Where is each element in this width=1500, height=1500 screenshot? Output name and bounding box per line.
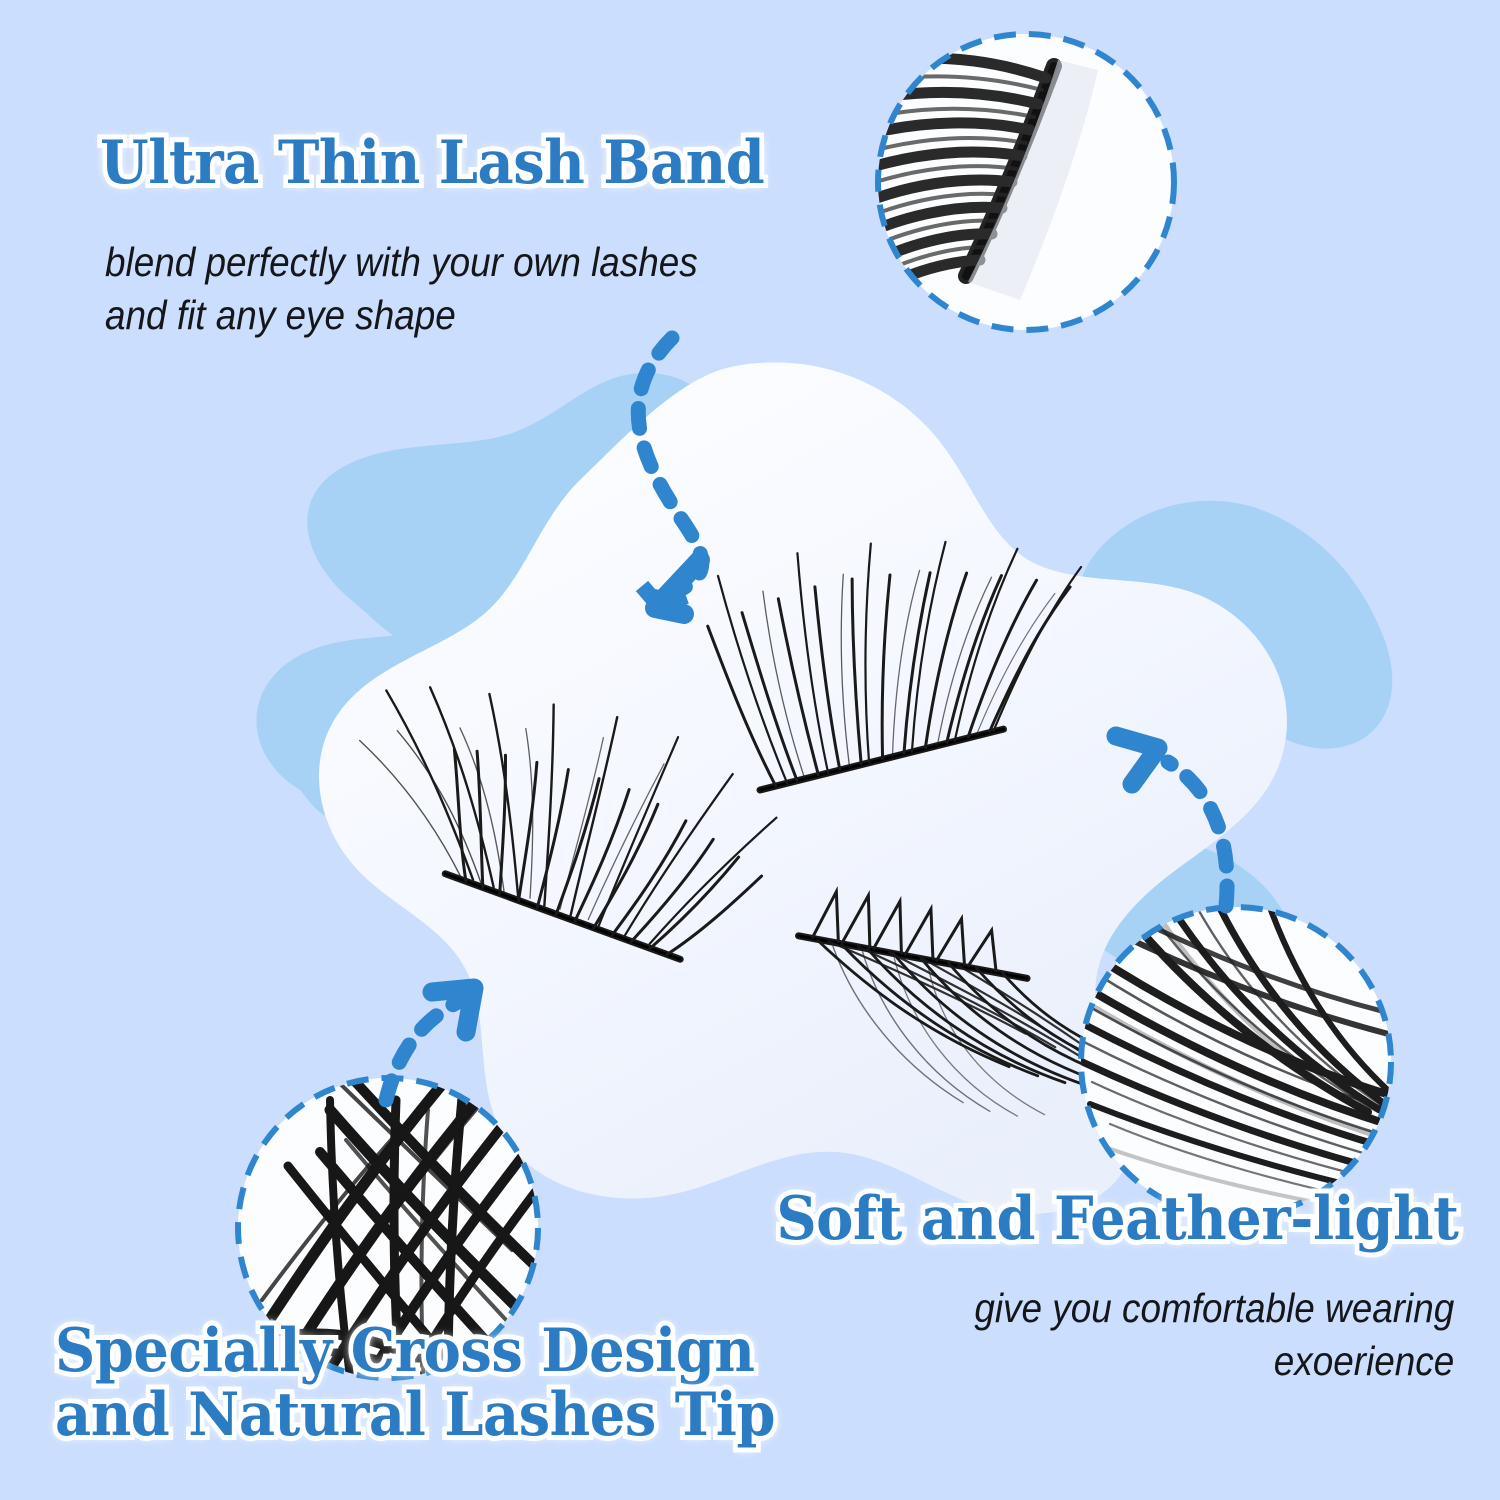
arrow-to-feather-light [1116, 736, 1227, 906]
feature-headline-ultra-thin-lash-band: Ultra Thin Lash Band [100, 132, 764, 196]
feature-headline-specially-cross-design: Specially Cross Design and Natural Lashe… [55, 1320, 775, 1447]
arrow-to-lash-band [638, 338, 702, 614]
feature-headline-soft-and-feather-light: Soft and Feather-light [776, 1188, 1458, 1252]
arrow-to-cross-design [386, 988, 474, 1100]
arrow-layer [0, 0, 1500, 1500]
feature-subtext-soft-and-feather-light: give you comfortable wearing exoerience [974, 1282, 1454, 1389]
feature-subtext-ultra-thin-lash-band: blend perfectly with your own lashes and… [105, 236, 698, 343]
infographic-canvas: Ultra Thin Lash Band blend perfectly wit… [0, 0, 1500, 1500]
